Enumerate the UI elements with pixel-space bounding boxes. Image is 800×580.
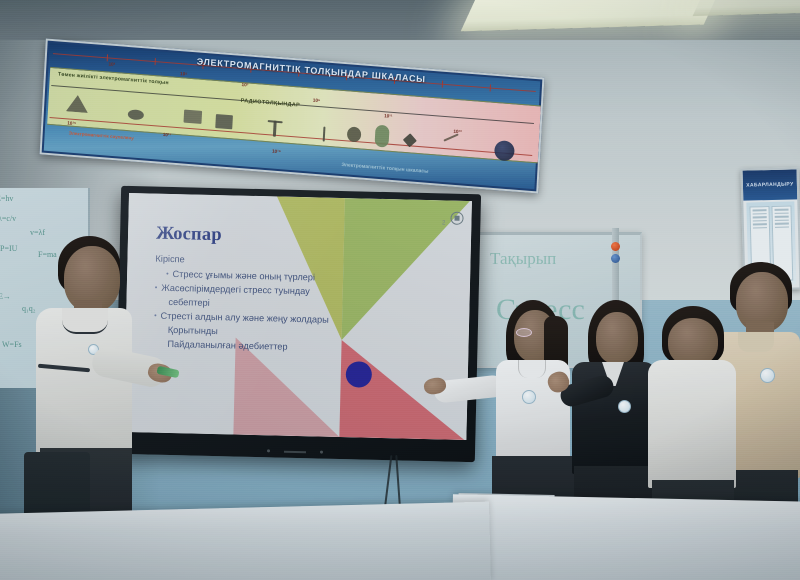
formula-text: v=λf bbox=[30, 228, 45, 237]
formula-text: E=hv bbox=[0, 194, 13, 203]
slide-intro-text: Кіріспе bbox=[155, 254, 184, 265]
school-badge bbox=[618, 400, 631, 413]
xray-tube-icon bbox=[374, 125, 389, 148]
tv-icon bbox=[215, 114, 233, 129]
display-screen[interactable]: Жоспар Кіріспе • Стресс ұғымы және оның … bbox=[123, 193, 472, 440]
list-item-label: Пайдаланылған әдебиеттер bbox=[167, 338, 287, 354]
torso bbox=[648, 360, 736, 488]
head bbox=[596, 312, 638, 364]
formula-text: W=Fs bbox=[2, 340, 22, 349]
slide-title: Жоспар bbox=[156, 224, 222, 247]
poster-exponent: 10⁵ bbox=[180, 71, 188, 77]
desk-front[interactable] bbox=[0, 502, 491, 580]
brand-bar bbox=[284, 450, 306, 453]
poster-exponent: 10¹⁵ bbox=[67, 120, 76, 126]
presentation-slide[interactable]: Жоспар Кіріспе • Стресс ұғымы және оның … bbox=[123, 193, 472, 440]
bullet-marker: • bbox=[154, 310, 157, 323]
radio-device-icon bbox=[183, 110, 202, 124]
poster-exponent: 10⁷ bbox=[241, 82, 248, 88]
formula-text: F=ma bbox=[38, 250, 57, 259]
poster-exponent: 10¹¹ bbox=[384, 113, 392, 119]
poster-exponent: 10⁹ bbox=[313, 98, 321, 104]
collar bbox=[738, 332, 774, 352]
desk-right[interactable] bbox=[451, 494, 800, 580]
slide-bullet-list: • Стресс ұғымы және оның түрлері • Жасөс… bbox=[153, 268, 405, 358]
formula-text: q₁q₂ bbox=[22, 304, 36, 313]
poster-exponent: 10¹⁷ bbox=[163, 132, 172, 138]
collar bbox=[518, 360, 546, 378]
formula-text: E→ bbox=[0, 292, 11, 301]
school-badge bbox=[522, 390, 536, 404]
list-item-label: Қорытынды bbox=[168, 324, 218, 338]
formula-text: P=IU bbox=[0, 244, 17, 253]
collar bbox=[62, 308, 108, 334]
slide-page-number: 2 bbox=[442, 220, 445, 226]
poster-exponent: 10¹⁹ bbox=[272, 149, 281, 155]
school-badge bbox=[760, 368, 775, 383]
mountain-icon bbox=[66, 94, 89, 113]
power-led-icon bbox=[267, 449, 270, 452]
magnet-icon bbox=[611, 242, 620, 251]
bullet-marker: • bbox=[155, 282, 158, 295]
head bbox=[668, 318, 718, 366]
list-item-label: себептері bbox=[168, 296, 210, 310]
interactive-display[interactable]: Жоспар Кіріспе • Стресс ұғымы және оның … bbox=[115, 186, 481, 462]
information-board-heading: ХАБАРЛАНДЫРУ bbox=[743, 169, 798, 200]
classroom-scene: ЭЛЕКТРОМАГНИТТІК ТОЛҚЫНДАР ШКАЛАСЫ Төмен… bbox=[0, 0, 800, 580]
formula-text: λ=c/v bbox=[0, 214, 16, 223]
whiteboard-writing-top: Тақырып bbox=[490, 249, 556, 269]
magnet-icon bbox=[611, 254, 620, 263]
poster-exponent: 10³ bbox=[108, 61, 115, 67]
sensor-icon bbox=[320, 451, 323, 454]
glasses-icon bbox=[516, 328, 532, 337]
bullet-marker: • bbox=[166, 268, 169, 281]
